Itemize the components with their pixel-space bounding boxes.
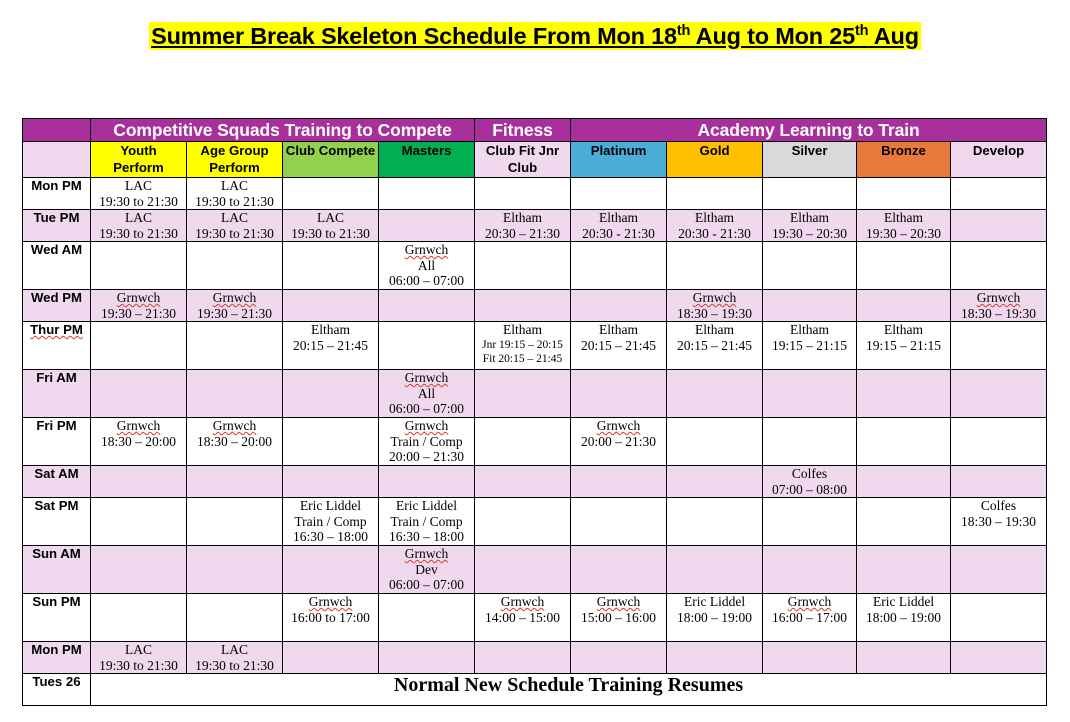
schedule-cell-agegroup: LAC19:30 to 21:30 bbox=[187, 642, 283, 674]
cell-line: Grnwch bbox=[379, 242, 474, 258]
column-header-gold: Gold bbox=[667, 142, 763, 178]
column-header-line1: Develop bbox=[951, 142, 1046, 159]
day-label-cell: Sun AM bbox=[23, 546, 91, 594]
cell-line: Eltham bbox=[667, 322, 762, 338]
spellcheck-word: Grnwch bbox=[213, 290, 257, 306]
cell-line: Grnwch bbox=[91, 290, 186, 306]
schedule-cell-clubcomp bbox=[283, 370, 379, 418]
schedule-cell-clubcomp: LAC19:30 to 21:30 bbox=[283, 210, 379, 242]
schedule-cell-platinum bbox=[571, 466, 667, 498]
spellcheck-word: Grnwch bbox=[405, 546, 449, 562]
day-label-cell: Fri AM bbox=[23, 370, 91, 418]
schedule-cell-youth bbox=[91, 594, 187, 642]
schedule-cell-fitjnr bbox=[475, 546, 571, 594]
cell-line: Eltham bbox=[571, 322, 666, 338]
cell-line: Grnwch bbox=[571, 418, 666, 434]
schedule-cell-fitjnr bbox=[475, 178, 571, 210]
cell-line: 14:00 – 15:00 bbox=[475, 610, 570, 626]
spellcheck-word: Grnwch bbox=[788, 594, 832, 610]
cell-line: Grnwch bbox=[379, 370, 474, 386]
schedule-row: Sat PMEric LiddelTrain / Comp16:30 – 18:… bbox=[23, 498, 1047, 546]
cell-line: 19:30 – 21:30 bbox=[91, 306, 186, 322]
footer-day-label: Tues 26 bbox=[23, 674, 91, 706]
column-header-day bbox=[23, 142, 91, 178]
cell-line: 18:30 – 19:30 bbox=[667, 306, 762, 322]
schedule-cell-fitjnr bbox=[475, 418, 571, 466]
schedule-row: Sun AMGrnwchDev06:00 – 07:00 bbox=[23, 546, 1047, 594]
schedule-cell-masters bbox=[379, 210, 475, 242]
discipline-header-row: YouthPerformAge GroupPerformClub Compete… bbox=[23, 142, 1047, 178]
cell-line: Grnwch bbox=[187, 418, 282, 434]
schedule-cell-youth: LAC19:30 to 21:30 bbox=[91, 642, 187, 674]
cell-line: Dev bbox=[379, 562, 474, 578]
schedule-cell-gold: Eltham20:30 - 21:30 bbox=[667, 210, 763, 242]
column-header-line2: Perform bbox=[187, 159, 282, 176]
schedule-cell-bronze bbox=[857, 642, 951, 674]
cell-line: Grnwch bbox=[667, 290, 762, 306]
cell-line: 19:30 to 21:30 bbox=[283, 226, 378, 242]
schedule-cell-clubcomp bbox=[283, 242, 379, 290]
cell-line: LAC bbox=[91, 642, 186, 658]
schedule-row: Wed PMGrnwch19:30 – 21:30Grnwch19:30 – 2… bbox=[23, 290, 1047, 322]
schedule-cell-agegroup bbox=[187, 594, 283, 642]
schedule-cell-gold bbox=[667, 418, 763, 466]
cell-line: 07:00 – 08:00 bbox=[763, 482, 856, 498]
cell-line: 20:00 – 21:30 bbox=[379, 449, 474, 465]
schedule-cell-masters: GrnwchAll06:00 – 07:00 bbox=[379, 370, 475, 418]
cell-line: 20:30 - 21:30 bbox=[571, 226, 666, 242]
column-header-line1: Platinum bbox=[571, 142, 666, 159]
schedule-cell-platinum bbox=[571, 642, 667, 674]
schedule-cell-silver: Eltham19:30 – 20:30 bbox=[763, 210, 857, 242]
schedule-cell-clubcomp: Grnwch16:00 to 17:00 bbox=[283, 594, 379, 642]
page-title-ordinal-2: th bbox=[855, 23, 868, 39]
column-header-fitjnr: Club Fit JnrClub bbox=[475, 142, 571, 178]
schedule-cell-clubcomp bbox=[283, 290, 379, 322]
schedule-cell-bronze bbox=[857, 178, 951, 210]
cell-line: 16:30 – 18:00 bbox=[379, 529, 474, 545]
cell-line: Eltham bbox=[763, 322, 856, 338]
cell-line: All bbox=[379, 258, 474, 274]
schedule-table: Competitive Squads Training to CompeteFi… bbox=[22, 118, 1047, 706]
group-header-2: Fitness bbox=[475, 119, 571, 142]
schedule-row: Tue PMLAC19:30 to 21:30LAC19:30 to 21:30… bbox=[23, 210, 1047, 242]
schedule-cell-develop bbox=[951, 466, 1047, 498]
spellcheck-word: Grnwch bbox=[405, 370, 449, 386]
schedule-cell-youth bbox=[91, 242, 187, 290]
day-label-cell: Mon PM bbox=[23, 178, 91, 210]
schedule-cell-youth bbox=[91, 370, 187, 418]
schedule-cell-clubcomp bbox=[283, 178, 379, 210]
cell-line: LAC bbox=[283, 210, 378, 226]
schedule-cell-silver bbox=[763, 498, 857, 546]
schedule-cell-develop bbox=[951, 178, 1047, 210]
schedule-row: Sun PMGrnwch16:00 to 17:00Grnwch14:00 – … bbox=[23, 594, 1047, 642]
schedule-cell-clubcomp bbox=[283, 546, 379, 594]
schedule-cell-gold bbox=[667, 242, 763, 290]
cell-line: Grnwch bbox=[951, 290, 1046, 306]
schedule-cell-clubcomp: Eltham20:15 – 21:45 bbox=[283, 322, 379, 370]
schedule-cell-fitjnr: Eltham20:30 – 21:30 bbox=[475, 210, 571, 242]
schedule-cell-bronze bbox=[857, 290, 951, 322]
schedule-cell-fitjnr: Grnwch14:00 – 15:00 bbox=[475, 594, 571, 642]
schedule-cell-masters bbox=[379, 322, 475, 370]
cell-line: Train / Comp bbox=[379, 514, 474, 530]
schedule-cell-masters bbox=[379, 642, 475, 674]
schedule-cell-develop: Colfes18:30 – 19:30 bbox=[951, 498, 1047, 546]
schedule-cell-fitjnr bbox=[475, 642, 571, 674]
schedule-cell-youth: Grnwch19:30 – 21:30 bbox=[91, 290, 187, 322]
cell-line: Colfes bbox=[951, 498, 1046, 514]
cell-line: Train / Comp bbox=[379, 434, 474, 450]
cell-line: 15:00 – 16:00 bbox=[571, 610, 666, 626]
schedule-cell-agegroup bbox=[187, 498, 283, 546]
cell-line: Eltham bbox=[475, 322, 570, 338]
cell-line: Grnwch bbox=[283, 594, 378, 610]
schedule-cell-platinum bbox=[571, 242, 667, 290]
schedule-cell-bronze bbox=[857, 370, 951, 418]
column-header-masters: Masters bbox=[379, 142, 475, 178]
day-label-cell: Fri PM bbox=[23, 418, 91, 466]
schedule-cell-agegroup bbox=[187, 322, 283, 370]
cell-line: 19:30 to 21:30 bbox=[187, 226, 282, 242]
column-header-platinum: Platinum bbox=[571, 142, 667, 178]
cell-line: 19:30 to 21:30 bbox=[91, 658, 186, 674]
schedule-cell-gold bbox=[667, 498, 763, 546]
schedule-cell-masters bbox=[379, 466, 475, 498]
cell-line: Grnwch bbox=[187, 290, 282, 306]
cell-line: 18:30 – 20:00 bbox=[187, 434, 282, 450]
page-title-part3: Aug bbox=[868, 23, 919, 49]
schedule-cell-youth: LAC19:30 to 21:30 bbox=[91, 178, 187, 210]
day-label-cell: Sun PM bbox=[23, 594, 91, 642]
schedule-row: Fri AMGrnwchAll06:00 – 07:00 bbox=[23, 370, 1047, 418]
schedule-cell-youth bbox=[91, 466, 187, 498]
cell-line: Eric Liddel bbox=[379, 498, 474, 514]
cell-line: Eltham bbox=[283, 322, 378, 338]
cell-line: Fit 20:15 – 21:45 bbox=[475, 352, 570, 366]
cell-line: Grnwch bbox=[475, 594, 570, 610]
schedule-cell-fitjnr: ElthamJnr 19:15 – 20:15Fit 20:15 – 21:45 bbox=[475, 322, 571, 370]
cell-line: Colfes bbox=[763, 466, 856, 482]
column-header-line2: Club bbox=[475, 159, 570, 176]
schedule-cell-silver bbox=[763, 178, 857, 210]
schedule-cell-masters bbox=[379, 290, 475, 322]
footer-row: Tues 26Normal New Schedule Training Resu… bbox=[23, 674, 1047, 706]
schedule-cell-develop bbox=[951, 546, 1047, 594]
column-header-silver: Silver bbox=[763, 142, 857, 178]
cell-line: LAC bbox=[187, 178, 282, 194]
page-title-part2: Aug to Mon 25 bbox=[690, 23, 855, 49]
schedule-cell-silver bbox=[763, 642, 857, 674]
column-header-develop: Develop bbox=[951, 142, 1047, 178]
group-header-row: Competitive Squads Training to CompeteFi… bbox=[23, 119, 1047, 142]
schedule-cell-develop bbox=[951, 210, 1047, 242]
spellcheck-word: Grnwch bbox=[405, 418, 449, 434]
cell-line: Eltham bbox=[763, 210, 856, 226]
cell-line: 19:30 to 21:30 bbox=[187, 194, 282, 210]
cell-line: 20:15 – 21:45 bbox=[667, 338, 762, 354]
spellcheck-word: Grnwch bbox=[597, 594, 641, 610]
schedule-row: Sat AMColfes07:00 – 08:00 bbox=[23, 466, 1047, 498]
cell-line: Eric Liddel bbox=[283, 498, 378, 514]
schedule-cell-fitjnr bbox=[475, 466, 571, 498]
cell-line: LAC bbox=[91, 178, 186, 194]
schedule-cell-silver: Grnwch16:00 – 17:00 bbox=[763, 594, 857, 642]
schedule-body: Competitive Squads Training to CompeteFi… bbox=[23, 119, 1047, 706]
schedule-cell-agegroup: LAC19:30 to 21:30 bbox=[187, 210, 283, 242]
schedule-cell-clubcomp bbox=[283, 642, 379, 674]
cell-line: Grnwch bbox=[91, 418, 186, 434]
cell-line: 18:00 – 19:00 bbox=[667, 610, 762, 626]
schedule-cell-bronze: Eltham19:15 – 21:15 bbox=[857, 322, 951, 370]
column-header-line2: Perform bbox=[91, 159, 186, 176]
cell-line: 19:30 – 20:30 bbox=[763, 226, 856, 242]
schedule-cell-agegroup bbox=[187, 546, 283, 594]
column-header-bronze: Bronze bbox=[857, 142, 951, 178]
group-header-blank bbox=[23, 119, 91, 142]
cell-line: 19:30 to 21:30 bbox=[91, 226, 186, 242]
cell-line: LAC bbox=[91, 210, 186, 226]
footer-message: Normal New Schedule Training Resumes bbox=[91, 674, 1047, 706]
schedule-cell-fitjnr bbox=[475, 370, 571, 418]
cell-line: 18:00 – 19:00 bbox=[857, 610, 950, 626]
spellcheck-word: Grnwch bbox=[597, 418, 641, 434]
cell-line: Grnwch bbox=[571, 594, 666, 610]
schedule-cell-bronze bbox=[857, 546, 951, 594]
cell-line: Eltham bbox=[857, 322, 950, 338]
schedule-cell-develop bbox=[951, 418, 1047, 466]
schedule-cell-fitjnr bbox=[475, 242, 571, 290]
cell-line: Grnwch bbox=[379, 546, 474, 562]
cell-line: Eric Liddel bbox=[667, 594, 762, 610]
column-header-line1: Gold bbox=[667, 142, 762, 159]
schedule-cell-develop bbox=[951, 642, 1047, 674]
day-label-cell: Wed AM bbox=[23, 242, 91, 290]
schedule-cell-platinum bbox=[571, 546, 667, 594]
cell-line: Eltham bbox=[857, 210, 950, 226]
page-title-part1: Summer Break Skeleton Schedule From Mon … bbox=[151, 23, 677, 49]
schedule-cell-agegroup bbox=[187, 466, 283, 498]
cell-line: 19:30 to 21:30 bbox=[187, 658, 282, 674]
schedule-cell-develop bbox=[951, 242, 1047, 290]
schedule-cell-fitjnr bbox=[475, 498, 571, 546]
schedule-cell-platinum: Eltham20:15 – 21:45 bbox=[571, 322, 667, 370]
cell-line: 18:30 – 19:30 bbox=[951, 306, 1046, 322]
spellcheck-word: Grnwch bbox=[117, 290, 161, 306]
spellcheck-word: Grnwch bbox=[309, 594, 353, 610]
schedule-row: Mon PMLAC19:30 to 21:30LAC19:30 to 21:30 bbox=[23, 178, 1047, 210]
schedule-cell-youth: Grnwch18:30 – 20:00 bbox=[91, 418, 187, 466]
cell-line: Jnr 19:15 – 20:15 bbox=[475, 338, 570, 352]
schedule-cell-bronze: Eric Liddel18:00 – 19:00 bbox=[857, 594, 951, 642]
schedule-table-container: Competitive Squads Training to CompeteFi… bbox=[22, 118, 1046, 706]
schedule-cell-bronze bbox=[857, 466, 951, 498]
day-label-cell: Sat AM bbox=[23, 466, 91, 498]
schedule-cell-masters bbox=[379, 178, 475, 210]
day-label-cell: Wed PM bbox=[23, 290, 91, 322]
cell-line: Eltham bbox=[667, 210, 762, 226]
schedule-cell-masters: GrnwchAll06:00 – 07:00 bbox=[379, 242, 475, 290]
cell-line: 19:30 – 21:30 bbox=[187, 306, 282, 322]
column-header-line1: Club Fit Jnr bbox=[475, 142, 570, 159]
column-header-youth: YouthPerform bbox=[91, 142, 187, 178]
schedule-cell-gold bbox=[667, 178, 763, 210]
spellcheck-word: Grnwch bbox=[213, 418, 257, 434]
cell-line: 06:00 – 07:00 bbox=[379, 577, 474, 593]
schedule-cell-clubcomp: Eric LiddelTrain / Comp16:30 – 18:00 bbox=[283, 498, 379, 546]
schedule-cell-platinum bbox=[571, 498, 667, 546]
schedule-cell-bronze bbox=[857, 242, 951, 290]
day-label-cell: Mon PM bbox=[23, 642, 91, 674]
schedule-row: Mon PMLAC19:30 to 21:30LAC19:30 to 21:30 bbox=[23, 642, 1047, 674]
schedule-row: Thur PMEltham20:15 – 21:45ElthamJnr 19:1… bbox=[23, 322, 1047, 370]
schedule-cell-develop: Grnwch18:30 – 19:30 bbox=[951, 290, 1047, 322]
schedule-cell-gold bbox=[667, 642, 763, 674]
schedule-cell-silver: Eltham19:15 – 21:15 bbox=[763, 322, 857, 370]
schedule-cell-develop bbox=[951, 594, 1047, 642]
schedule-cell-bronze bbox=[857, 498, 951, 546]
schedule-cell-agegroup: Grnwch19:30 – 21:30 bbox=[187, 290, 283, 322]
schedule-cell-silver bbox=[763, 546, 857, 594]
column-header-line1: Bronze bbox=[857, 142, 950, 159]
column-header-line1: Silver bbox=[763, 142, 856, 159]
cell-line: 16:00 – 17:00 bbox=[763, 610, 856, 626]
cell-line: 19:30 – 20:30 bbox=[857, 226, 950, 242]
day-label-cell: Sat PM bbox=[23, 498, 91, 546]
schedule-cell-silver bbox=[763, 242, 857, 290]
cell-line: 06:00 – 07:00 bbox=[379, 273, 474, 289]
schedule-cell-youth: LAC19:30 to 21:30 bbox=[91, 210, 187, 242]
cell-line: Train / Comp bbox=[283, 514, 378, 530]
day-label-cell: Tue PM bbox=[23, 210, 91, 242]
schedule-cell-develop bbox=[951, 322, 1047, 370]
column-header-clubcomp: Club Compete bbox=[283, 142, 379, 178]
schedule-cell-platinum: Eltham20:30 - 21:30 bbox=[571, 210, 667, 242]
cell-line: 16:00 to 17:00 bbox=[283, 610, 378, 626]
schedule-cell-bronze: Eltham19:30 – 20:30 bbox=[857, 210, 951, 242]
schedule-cell-silver bbox=[763, 418, 857, 466]
title-bar: Summer Break Skeleton Schedule From Mon … bbox=[0, 0, 1070, 50]
cell-line: 18:30 – 20:00 bbox=[91, 434, 186, 450]
spellcheck-word: Thur PM bbox=[30, 322, 83, 338]
schedule-cell-agegroup: LAC19:30 to 21:30 bbox=[187, 178, 283, 210]
spellcheck-word: Grnwch bbox=[117, 418, 161, 434]
schedule-cell-gold bbox=[667, 466, 763, 498]
cell-line: 18:30 – 19:30 bbox=[951, 514, 1046, 530]
page-title-ordinal-1: th bbox=[677, 23, 690, 39]
schedule-cell-gold: Grnwch18:30 – 19:30 bbox=[667, 290, 763, 322]
schedule-cell-silver bbox=[763, 290, 857, 322]
schedule-cell-gold: Eric Liddel18:00 – 19:00 bbox=[667, 594, 763, 642]
cell-line: Grnwch bbox=[763, 594, 856, 610]
schedule-cell-fitjnr bbox=[475, 290, 571, 322]
column-header-line1: Age Group bbox=[187, 142, 282, 159]
cell-line: LAC bbox=[187, 642, 282, 658]
schedule-cell-silver: Colfes07:00 – 08:00 bbox=[763, 466, 857, 498]
cell-line: 19:15 – 21:15 bbox=[763, 338, 856, 354]
spellcheck-word: Grnwch bbox=[977, 290, 1021, 306]
schedule-row: Wed AMGrnwchAll06:00 – 07:00 bbox=[23, 242, 1047, 290]
schedule-cell-platinum bbox=[571, 178, 667, 210]
cell-line: Eric Liddel bbox=[857, 594, 950, 610]
spellcheck-word: Grnwch bbox=[693, 290, 737, 306]
cell-line: All bbox=[379, 386, 474, 402]
schedule-cell-develop bbox=[951, 370, 1047, 418]
spellcheck-word: Grnwch bbox=[501, 594, 545, 610]
schedule-cell-gold: Eltham20:15 – 21:45 bbox=[667, 322, 763, 370]
column-header-line1: Youth bbox=[91, 142, 186, 159]
column-header-line1: Club Compete bbox=[283, 142, 378, 159]
cell-line: 19:15 – 21:15 bbox=[857, 338, 950, 354]
cell-line: 16:30 – 18:00 bbox=[283, 529, 378, 545]
cell-line: 20:15 – 21:45 bbox=[571, 338, 666, 354]
schedule-cell-youth bbox=[91, 322, 187, 370]
schedule-cell-platinum bbox=[571, 290, 667, 322]
cell-line: 06:00 – 07:00 bbox=[379, 401, 474, 417]
schedule-cell-agegroup bbox=[187, 242, 283, 290]
schedule-cell-youth bbox=[91, 498, 187, 546]
cell-line: Eltham bbox=[571, 210, 666, 226]
schedule-cell-agegroup: Grnwch18:30 – 20:00 bbox=[187, 418, 283, 466]
cell-line: 20:15 – 21:45 bbox=[283, 338, 378, 354]
cell-line: 20:30 - 21:30 bbox=[667, 226, 762, 242]
schedule-cell-agegroup bbox=[187, 370, 283, 418]
group-header-3: Academy Learning to Train bbox=[571, 119, 1047, 142]
schedule-row: Fri PMGrnwch18:30 – 20:00Grnwch18:30 – 2… bbox=[23, 418, 1047, 466]
schedule-cell-masters: GrnwchDev06:00 – 07:00 bbox=[379, 546, 475, 594]
schedule-cell-clubcomp bbox=[283, 418, 379, 466]
column-header-agegroup: Age GroupPerform bbox=[187, 142, 283, 178]
schedule-cell-platinum bbox=[571, 370, 667, 418]
group-header-1: Competitive Squads Training to Compete bbox=[91, 119, 475, 142]
schedule-cell-gold bbox=[667, 370, 763, 418]
schedule-cell-bronze bbox=[857, 418, 951, 466]
page-title: Summer Break Skeleton Schedule From Mon … bbox=[149, 22, 921, 50]
spellcheck-word: Grnwch bbox=[405, 242, 449, 258]
cell-line: Grnwch bbox=[379, 418, 474, 434]
cell-line: 20:00 – 21:30 bbox=[571, 434, 666, 450]
schedule-cell-gold bbox=[667, 546, 763, 594]
cell-line: 20:30 – 21:30 bbox=[475, 226, 570, 242]
schedule-cell-youth bbox=[91, 546, 187, 594]
column-header-line1: Masters bbox=[379, 142, 474, 159]
day-label-cell: Thur PM bbox=[23, 322, 91, 370]
schedule-cell-masters bbox=[379, 594, 475, 642]
cell-line: 19:30 to 21:30 bbox=[91, 194, 186, 210]
schedule-cell-silver bbox=[763, 370, 857, 418]
schedule-cell-masters: GrnwchTrain / Comp20:00 – 21:30 bbox=[379, 418, 475, 466]
schedule-cell-platinum: Grnwch20:00 – 21:30 bbox=[571, 418, 667, 466]
schedule-cell-masters: Eric LiddelTrain / Comp16:30 – 18:00 bbox=[379, 498, 475, 546]
cell-line: LAC bbox=[187, 210, 282, 226]
schedule-cell-platinum: Grnwch15:00 – 16:00 bbox=[571, 594, 667, 642]
schedule-cell-clubcomp bbox=[283, 466, 379, 498]
cell-line: Eltham bbox=[475, 210, 570, 226]
